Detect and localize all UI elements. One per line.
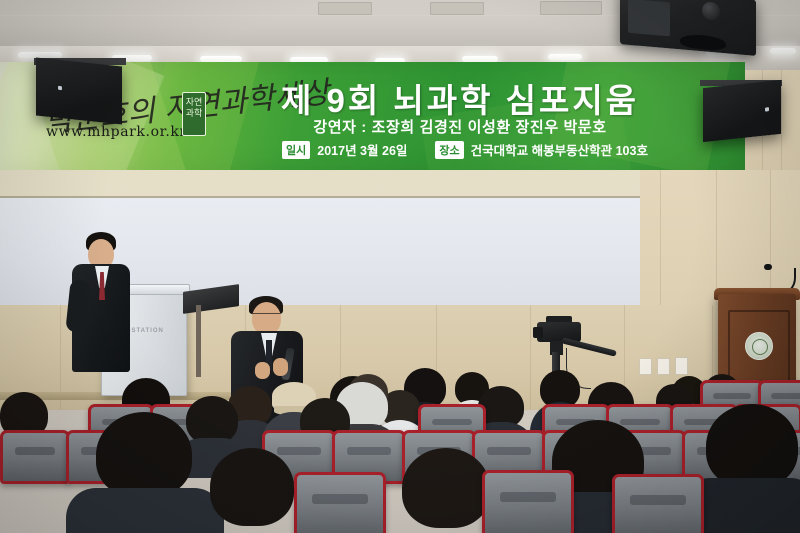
auditorium-seat[interactable] [482,470,574,533]
microphone-head [764,264,772,270]
ceiling-light [548,54,582,60]
presenter-hand [255,362,270,379]
video-camera [537,322,581,342]
auditorium-seat[interactable] [612,474,704,533]
left-loudspeaker [36,57,122,124]
projector-lens [702,1,720,21]
auditorium-seat[interactable] [0,430,70,484]
university-crest-icon [745,332,773,360]
banner-title: 제 9회 뇌과학 심포지움 [200,74,720,122]
banner-place-tag: 장소 [435,141,463,159]
speaker-indicator [58,86,62,90]
ceiling-light [770,48,796,54]
organizer-url: www.mhpark.or.kr [46,124,187,140]
wall-outlet [639,358,652,375]
presenter-at-podium [78,232,138,377]
banner-date-tag: 일시 [282,141,310,159]
presenter-hand [273,358,288,376]
banner-meta: 일시 2017년 3월 26일 장소 건국대학교 해봉부동산학관 103호 [200,140,730,159]
auditorium-photo: 박문호의 자연과학세상 www.mhpark.or.kr 자연과학 제 9회 뇌… [0,0,800,533]
wall-outlet [675,357,688,375]
podium-leg [196,305,201,377]
wall-outlet [657,358,670,375]
right-loudspeaker [703,80,781,142]
speaker-indicator [765,107,769,111]
glasses-icon [253,313,280,320]
banner-speaker-list: 강연자 : 조장희 김경진 이성환 장진우 박문호 [200,116,720,137]
banner-date-value: 2017년 3월 26일 [317,140,407,159]
banner-place-value: 건국대학교 해봉부동산학관 103호 [471,140,648,159]
camera-lens [533,327,543,338]
auditorium-seat[interactable] [294,472,386,533]
